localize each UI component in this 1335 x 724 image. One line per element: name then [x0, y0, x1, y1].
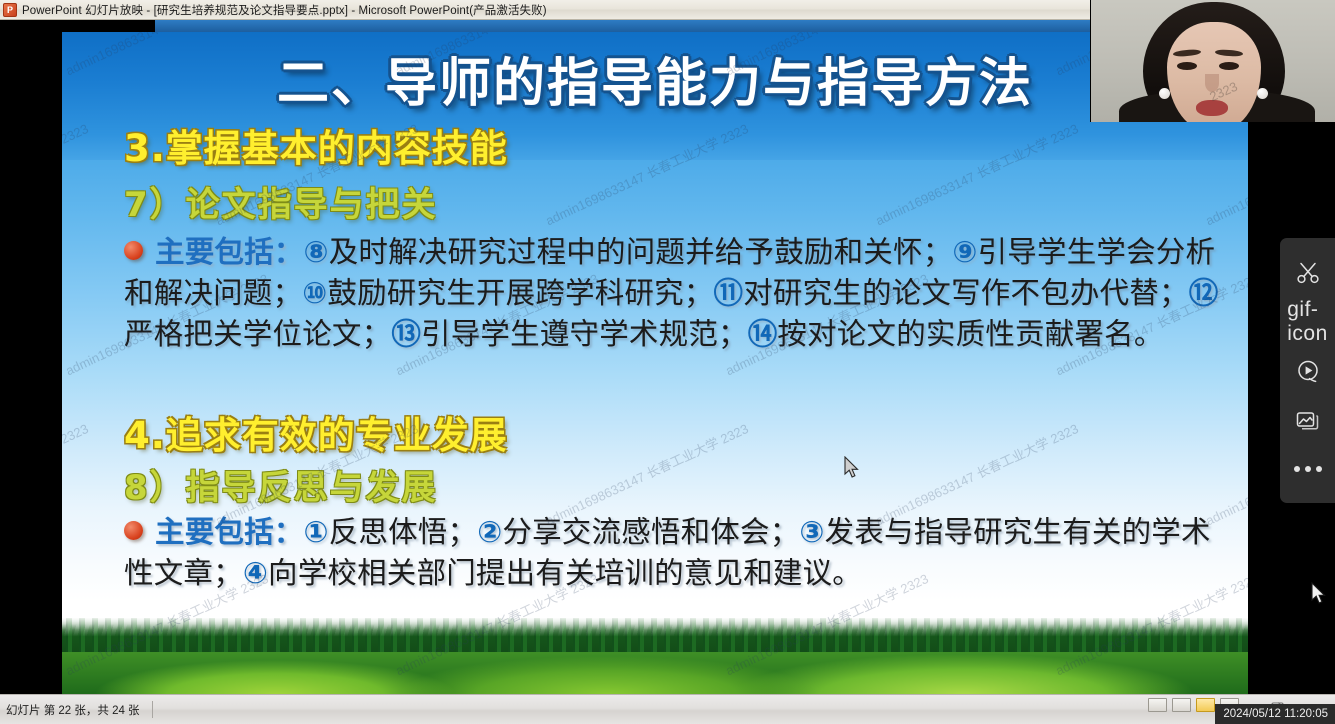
powerpoint-icon: P	[3, 3, 17, 17]
item-marker: ⑭	[748, 317, 778, 351]
statusbar-separator	[152, 701, 153, 718]
item-text: 及时解决研究过程中的问题并给予鼓励和关怀；	[329, 235, 953, 269]
more-icon[interactable]	[1288, 449, 1328, 489]
gif-label: gif-icon	[1287, 298, 1328, 346]
section-heading-3: 3.掌握基本的内容技能	[124, 118, 508, 172]
body-lead-1: 主要包括：	[155, 235, 304, 269]
item-text: 反思体悟；	[329, 515, 478, 549]
section-heading-4: 4.追求有效的专业发展	[124, 405, 508, 459]
presenter-webcam-video[interactable]: 2323	[1090, 0, 1335, 122]
screen-recording-frame: P PowerPoint 幻灯片放映 - [研究生培养规范及论文指导要点.ppt…	[0, 0, 1335, 724]
item-marker: ③	[799, 515, 824, 549]
green-hills	[62, 652, 1248, 694]
clock-tooltip: 2024/05/12 11:20:05	[1215, 704, 1335, 724]
item-text: 向学校相关部门提出有关培训的意见和建议。	[268, 556, 862, 590]
more-dots	[1294, 466, 1322, 472]
body-lead-2: 主要包括：	[155, 515, 304, 549]
recorder-toolbar[interactable]: gif-icon	[1280, 238, 1335, 503]
dot	[1305, 466, 1311, 472]
item-text: 引导学生遵守学术规范；	[421, 317, 748, 351]
presenter-eye-left	[1177, 62, 1197, 70]
presenter-earring-right	[1257, 88, 1268, 99]
record-icon[interactable]	[1288, 351, 1328, 391]
gif-icon[interactable]: gif-icon	[1288, 302, 1328, 342]
item-text: 对研究生的论文写作不包办代替；	[743, 276, 1189, 310]
tray-icon-2[interactable]	[1172, 698, 1191, 712]
bullet-dot-icon	[124, 241, 143, 260]
dot	[1294, 466, 1300, 472]
watermark-text: admin1698633147 长春工业大学 2323	[62, 418, 91, 529]
slide-counter: 幻灯片 第 22 张，共 24 张	[0, 702, 140, 718]
section-subheading-8: 8）指导反思与发展	[124, 460, 438, 509]
tray-icon-3-active[interactable]	[1196, 698, 1215, 712]
item-text: 严格把关学位论文；	[124, 317, 391, 351]
item-marker: ⑨	[952, 235, 977, 269]
item-marker: ⑬	[391, 317, 421, 351]
presenter-eye-right	[1219, 62, 1239, 70]
dot	[1316, 466, 1322, 472]
letterbox-left	[0, 32, 62, 694]
item-text: 按对论文的实质性贡献署名。	[777, 317, 1163, 351]
section-body-2: 主要包括：①反思体悟；②分享交流感悟和体会；③发表与指导研究生有关的学术性文章；…	[124, 512, 1234, 594]
presenter-earring-left	[1159, 88, 1170, 99]
section-body-1: 主要包括：⑧及时解决研究过程中的问题并给予鼓励和关怀；⑨引导学生学会分析和解决问…	[124, 232, 1234, 355]
item-text: 鼓励研究生开展跨学科研究；	[327, 276, 713, 310]
bullet-dot-icon	[124, 521, 143, 540]
slide-scenery-graphic	[62, 618, 1248, 694]
image-icon[interactable]	[1288, 400, 1328, 440]
item-marker: ④	[243, 556, 268, 590]
slideshow-stage[interactable]: 二、导师的指导能力与指导方法 3.掌握基本的内容技能 7）论文指导与把关 主要包…	[0, 32, 1335, 694]
item-marker: ⑪	[714, 276, 744, 310]
item-text: 分享交流感悟和体会；	[502, 515, 799, 549]
item-marker: ①	[304, 515, 329, 549]
powerpoint-statusbar: 幻灯片 第 22 张，共 24 张	[0, 694, 1335, 724]
section-subheading-7: 7）论文指导与把关	[124, 177, 438, 226]
item-marker: ⑩	[302, 276, 327, 310]
slide-canvas[interactable]: 二、导师的指导能力与指导方法 3.掌握基本的内容技能 7）论文指导与把关 主要包…	[62, 32, 1248, 694]
scissors-icon[interactable]	[1288, 253, 1328, 293]
window-title: PowerPoint 幻灯片放映 - [研究生培养规范及论文指导要点.pptx]…	[22, 2, 547, 18]
item-marker: ⑧	[304, 235, 329, 269]
slide-title: 二、导师的指导能力与指导方法	[62, 54, 1248, 114]
item-marker: ⑫	[1189, 276, 1219, 310]
tray-icon-1[interactable]	[1148, 698, 1167, 712]
item-marker: ②	[477, 515, 502, 549]
chrome-dark-segment	[0, 20, 155, 32]
